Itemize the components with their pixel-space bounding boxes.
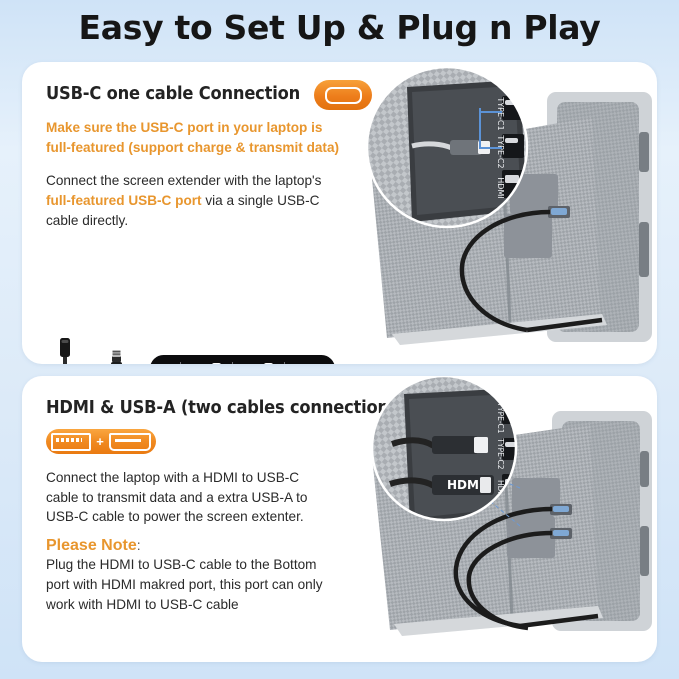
card1-product-photo: TYPE-C1 TYPE-C2 HDMI	[352, 62, 657, 364]
card-usb-c-connection: USB-C one cable Connection Make sure the…	[22, 62, 657, 364]
lightning-bolt-icon: ⚡	[316, 363, 324, 364]
card2-note-line2: port with HDMI makred port, this port ca…	[46, 575, 346, 595]
card1-body-pre: Connect the screen extender with the lap…	[46, 173, 321, 188]
svg-text:HDMI: HDMI	[496, 177, 505, 198]
hdmi-usb-a-badge: +	[46, 429, 156, 454]
usb-c-to-usb-c-cable-art	[54, 330, 146, 364]
card1-body: Connect the screen extender with the lap…	[46, 171, 346, 230]
usb-a-icon	[51, 433, 91, 451]
card2-product-photo: TYPE-C1 TYPE-C2 HDMI HDMI	[352, 376, 657, 662]
badge-divider	[284, 362, 285, 364]
badge-divider	[232, 362, 233, 364]
card1-warning-line1: Make sure the USB-C port in your laptop …	[46, 118, 346, 138]
note-colon: :	[137, 537, 141, 553]
card1-text-column: USB-C one cable Connection Make sure the…	[46, 84, 346, 231]
badge-ss-label-1: SSC	[192, 364, 210, 365]
svg-text:TYPE-C2: TYPE-C2	[496, 134, 505, 168]
svg-text:HDMI: HDMI	[447, 478, 483, 492]
badge-segment-data: SSC ↹	[244, 363, 273, 364]
badge-segment-charge: SSC ⚡	[296, 363, 323, 364]
infographic-page: Easy to Set Up & Plug n Play USB-C one c…	[0, 0, 679, 679]
card2-text-column: HDMI & USB-A (two cables connection) + C…	[46, 398, 346, 614]
plus-sign: +	[96, 435, 104, 448]
displayport-icon: D	[212, 363, 221, 364]
svg-text:TYPE-C1: TYPE-C1	[496, 96, 505, 130]
card-hdmi-usb-a-connection: HDMI & USB-A (two cables connection) + C…	[22, 376, 657, 662]
lightning-bolt-icon: ⚡	[162, 363, 170, 364]
card2-heading: HDMI & USB-A (two cables connection)	[46, 398, 325, 418]
svg-text:TYPE-C2: TYPE-C2	[496, 437, 505, 469]
hdmi-icon	[109, 433, 151, 451]
card2-body-line3: USB-C cable to power the screen extenter…	[46, 507, 346, 527]
note-label: Please Note	[46, 537, 137, 554]
card2-note-line3: work with HDMI to USB-C cable	[46, 595, 346, 615]
badge-segment-power: ⚡	[162, 363, 170, 364]
card1-warning-line2: full-featured (support charge & transmit…	[46, 138, 346, 158]
card2-note-heading: Please Note:	[46, 537, 346, 555]
badge-ss-label-2: SSC	[244, 364, 262, 365]
data-icon: ↹	[264, 363, 273, 364]
card1-body-highlight: full-featured USB-C port	[46, 193, 202, 208]
badge-segment-displayport: SSC D	[192, 363, 221, 364]
card2-body-line1: Connect the laptop with a HDMI to USB-C	[46, 468, 346, 488]
badge-ss-label-3: SSC	[296, 364, 314, 365]
badge-divider	[180, 362, 181, 364]
page-title: Easy to Set Up & Plug n Play	[0, 8, 679, 47]
card2-note-line1: Plug the HDMI to USB-C cable to the Bott…	[46, 555, 346, 575]
card2-body-line2: cable to transmit data and a extra USB-A…	[46, 488, 346, 508]
card1-heading: USB-C one cable Connection	[46, 84, 325, 104]
port-capability-badge: ⚡ SSC D SSC ↹ SSC ⚡	[150, 355, 335, 364]
